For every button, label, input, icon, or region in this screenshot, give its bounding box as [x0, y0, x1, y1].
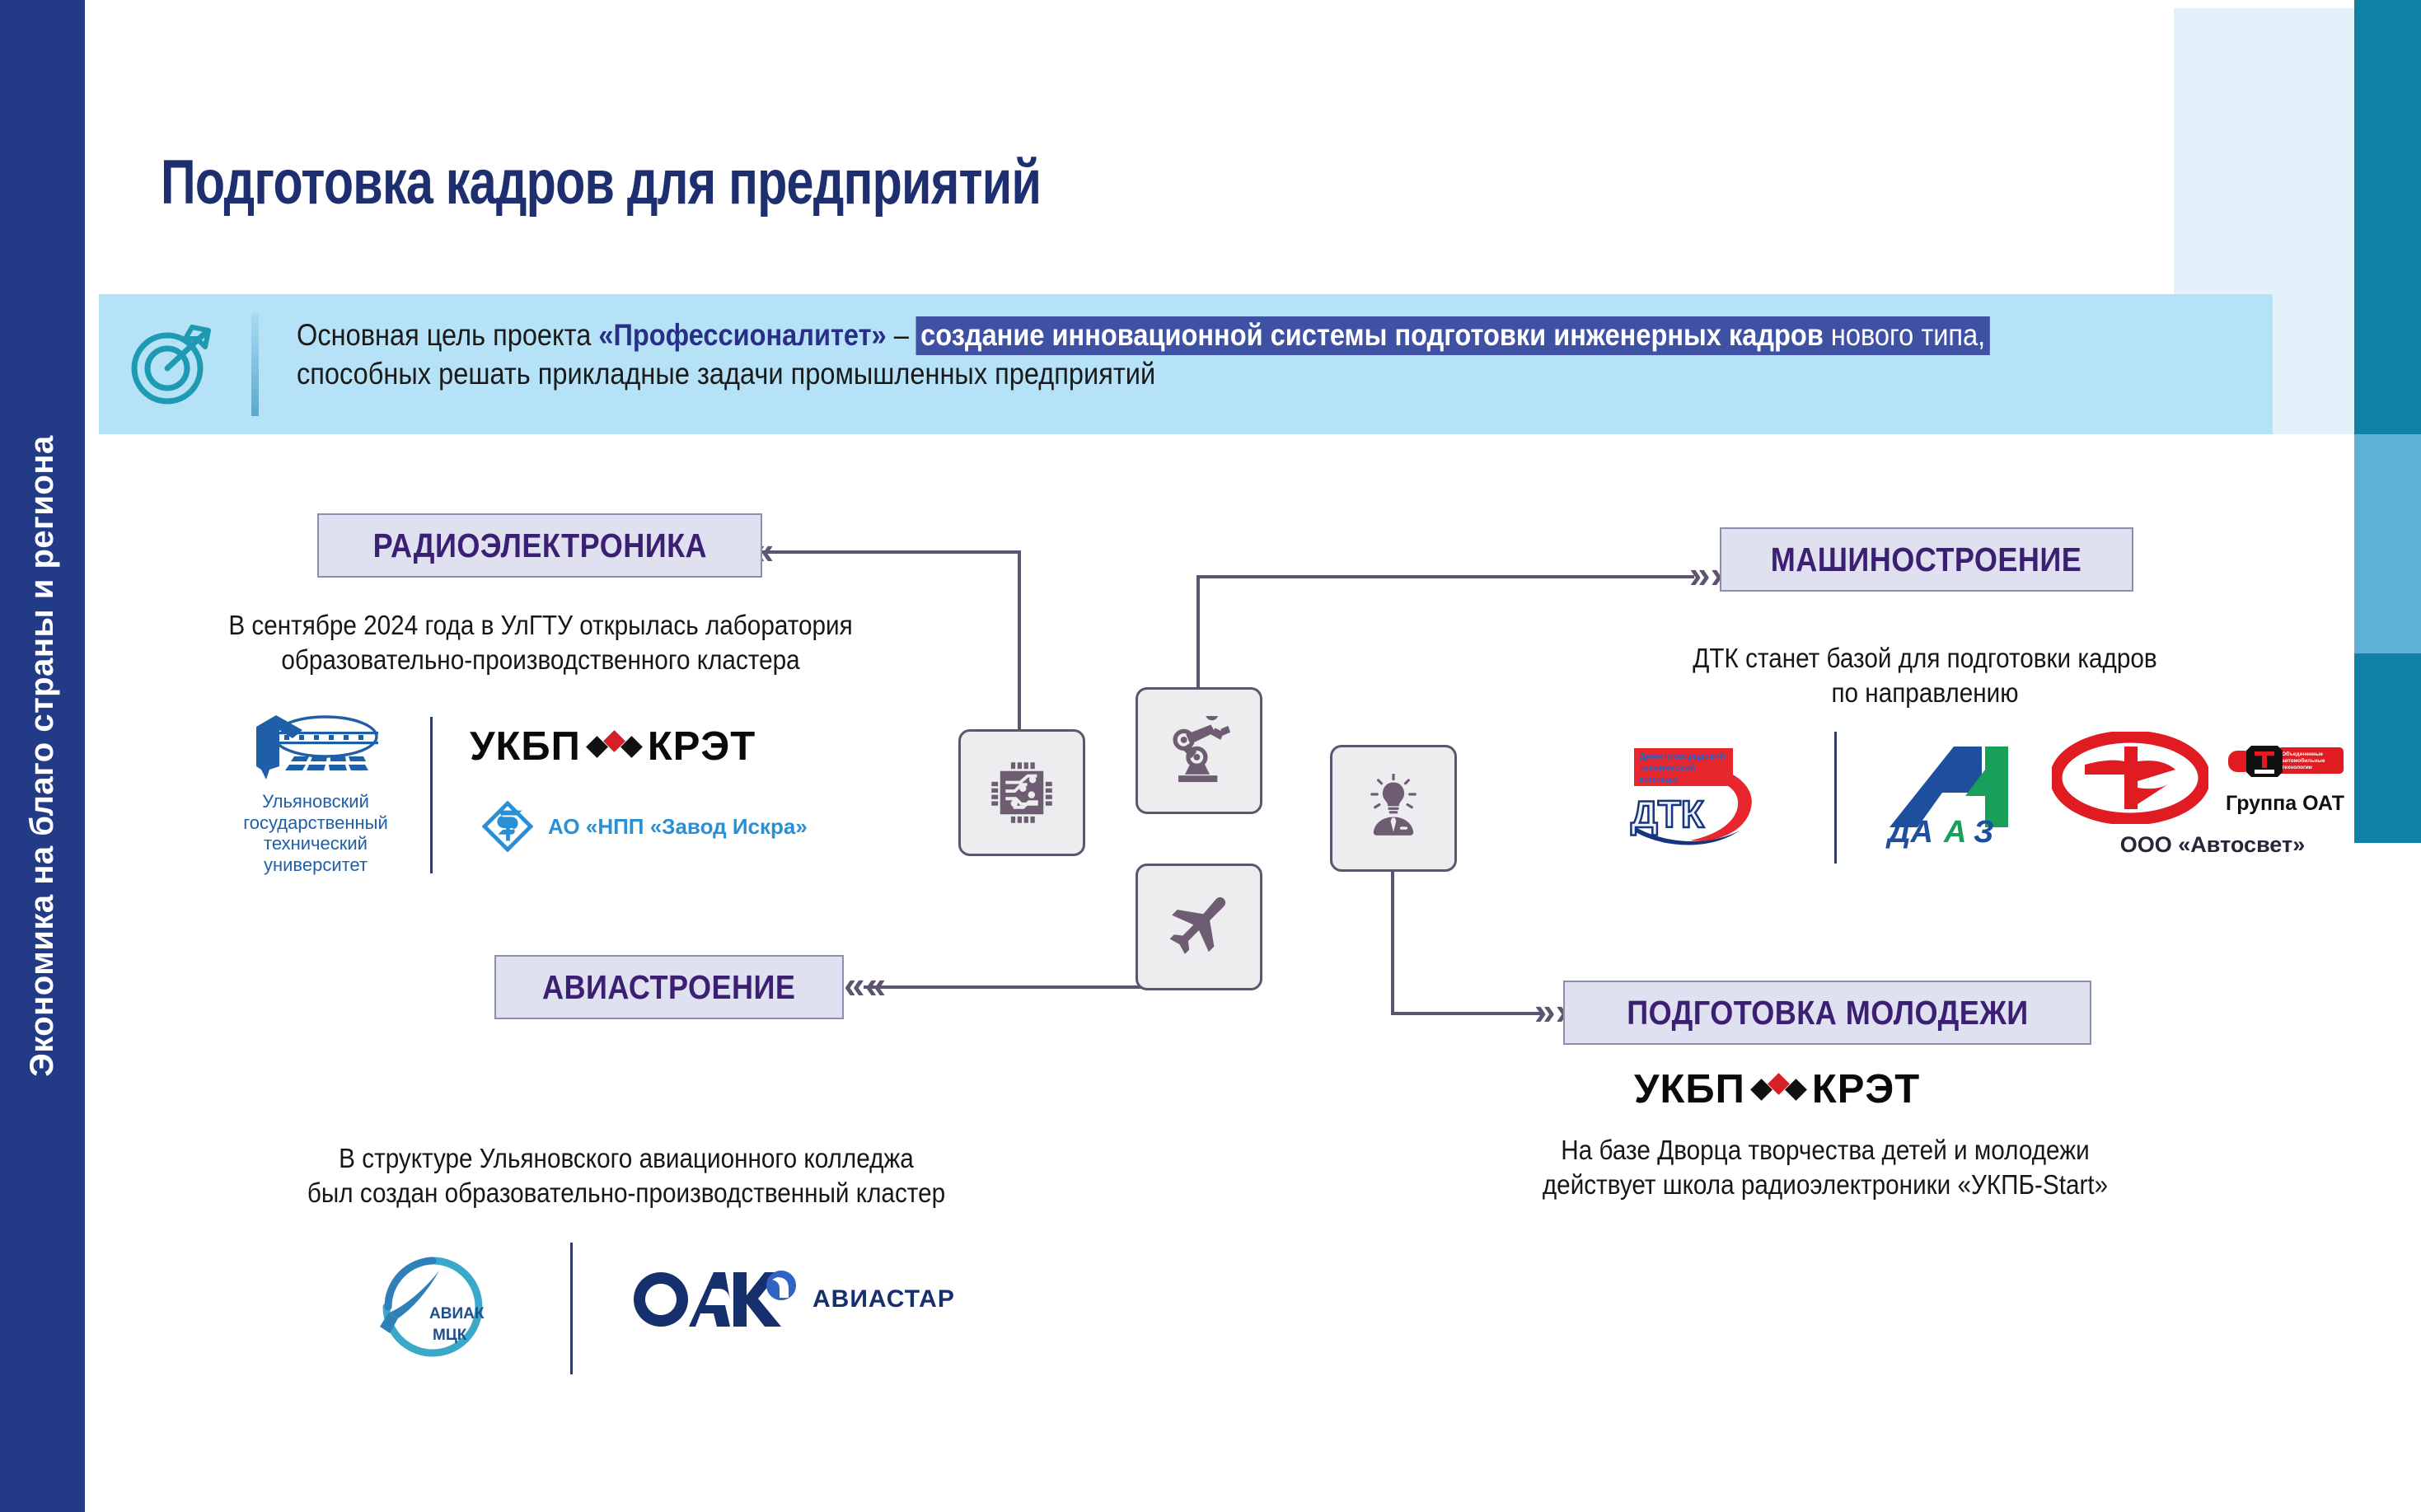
ulgtu-caption-line2: государственный [213, 812, 419, 834]
ukbp-youth-right: КРЭТ [1812, 1066, 1920, 1112]
avtosvet-mark-icon [2052, 732, 2208, 824]
text-radioelektronika: В сентябре 2024 года в УлГТУ открылась л… [124, 608, 958, 677]
connector-chip-horizontal [750, 550, 1021, 554]
banner-highlight: создание инновационной системы подготовк… [916, 316, 1990, 355]
aviak-mck-mark-icon: АВИАК МЦК [350, 1251, 515, 1358]
dtk-mark-text: ДТК [1631, 793, 1705, 836]
tile-person-lightbulb[interactable] [1330, 745, 1457, 872]
diagram-stage: «« »» «« »» [0, 445, 2421, 1512]
person-lightbulb-icon [1359, 774, 1428, 843]
logo-iskra: АО «НПП «Завод Искра» [482, 801, 808, 852]
avtosvet-caption: ООО «Автосвет» [2077, 832, 2348, 858]
label-radioelektronika[interactable]: РАДИОЭЛЕКТРОНИКА [317, 513, 762, 578]
ukbp-diamond-cluster-icon [589, 733, 639, 760]
dtk-sub3: колледж [1639, 775, 1678, 784]
airplane-icon [1164, 892, 1234, 962]
oat-caption: Группа ОАТ [2226, 792, 2344, 816]
label-podgotovka-text: ПОДГОТОВКА МОЛОДЕЖИ [1627, 994, 2028, 1032]
tile-microchip[interactable] [958, 729, 1085, 856]
text-avia-line1: В структуре Ульяновского авиационного ко… [248, 1141, 1004, 1176]
decorative-panel-teal-top [2354, 0, 2421, 434]
page-title: Подготовка кадров для предприятий [161, 147, 1041, 218]
arrow-left-avia: «« [844, 966, 886, 1004]
banner-lead: Основная цель проекта [297, 318, 598, 352]
daaz-mark-icon: ДА А З [1885, 742, 2033, 849]
ulgtu-mark-icon [233, 709, 398, 791]
logo-oak-aviastar: АВИАСТАР [626, 1267, 955, 1332]
banner-highlight-bold: создание инновационной системы подготовк… [920, 318, 1824, 352]
text-radio-line2: образовательно-производственного кластер… [166, 643, 916, 677]
daaz-mark-green: А [1943, 815, 1966, 849]
divider-radio [430, 717, 433, 873]
connector-person-horizontal [1391, 1012, 1541, 1015]
label-radioelektronika-text: РАДИОЭЛЕКТРОНИКА [372, 527, 706, 565]
text-aviastroenie: В структуре Ульяновского авиационного ко… [206, 1141, 1047, 1210]
banner-tail: способных решать прикладные задачи промы… [297, 357, 1155, 391]
aviastar-caption: АВИАСТАР [812, 1285, 955, 1313]
text-youth-line1: На базе Дворца творчества детей и молоде… [1488, 1133, 2163, 1168]
label-podgotovka-molodezhi-box[interactable]: ПОДГОТОВКА МОЛОДЕЖИ [1563, 981, 2091, 1045]
robot-arm-icon [1164, 716, 1234, 785]
logo-avtosvet: Объединенныеавтомобильныетехнологии Груп… [2052, 732, 2348, 858]
label-aviastroenie-text: АВИАСТРОЕНИЕ [542, 968, 795, 1007]
ukbp-youth-diamond-cluster-icon [1754, 1076, 1804, 1102]
banner-dash: – [887, 318, 916, 352]
ukbp-youth-left: УКБП [1634, 1066, 1745, 1112]
logo-ulgtu-caption: Ульяновский государственный технический … [213, 791, 419, 875]
label-aviastroenie[interactable]: АВИАСТРОЕНИЕ [494, 955, 844, 1019]
dtk-sub2: технический [1639, 763, 1695, 773]
logo-daaz: ДА А З [1885, 742, 2033, 849]
banner-project-name: «Профессионалитет» [598, 318, 886, 352]
dtk-mark-icon: Димитровградский технический колледж ДТК [1619, 742, 1776, 849]
logo-dtk: Димитровградский технический колледж ДТК [1619, 742, 1776, 849]
aviak-line2: МЦК [433, 1327, 467, 1344]
oat-mark-icon: Объединенныеавтомобильныетехнологии [2223, 741, 2347, 789]
connector-person-vertical [1391, 867, 1394, 1015]
ulgtu-caption-line1: Ульяновский [213, 791, 419, 812]
connector-robot-horizontal [1196, 575, 1694, 578]
connector-robot-vertical [1196, 575, 1200, 687]
daaz-mark-blue2: З [1974, 815, 1993, 849]
label-mashinostroenie[interactable]: МАШИНОСТРОЕНИЕ [1720, 527, 2133, 592]
iskra-caption: АО «НПП «Завод Искра» [548, 814, 808, 840]
logo-ukbp-kret-youth: УКБП КРЭТ [1634, 1066, 1920, 1112]
ukbp-right-text: КРЭТ [648, 723, 756, 770]
microchip-icon [987, 758, 1056, 827]
ulgtu-caption-line3: технический университет [213, 833, 419, 875]
text-youth-line2: действует школа радиоэлектроники «УКПБ-S… [1488, 1168, 2163, 1202]
aviak-line1: АВИАК [429, 1305, 485, 1322]
daaz-mark-blue: ДА [1885, 815, 1933, 849]
text-mashino-line2: по направлению [1583, 676, 2267, 710]
connector-chip-vertical [1018, 550, 1021, 729]
logo-ukbp-kret-radio: УКБП КРЭТ [470, 723, 756, 770]
iskra-mark-icon [482, 801, 533, 852]
text-mashino-line1: ДТК станет базой для подготовки кадров [1583, 641, 2267, 676]
ukbp-left-text: УКБП [470, 723, 581, 770]
text-avia-line2: был создан образовательно-производственн… [248, 1176, 1004, 1210]
logo-ulgtu: Ульяновский государственный технический … [213, 709, 419, 875]
banner-highlight-thin: нового типа, [1824, 318, 1985, 352]
text-mashinostroenie: ДТК станет базой для подготовки кадров п… [1545, 641, 2305, 710]
banner-accent-bar [251, 312, 259, 416]
tile-robot-arm[interactable] [1136, 687, 1262, 814]
tile-airplane[interactable] [1136, 864, 1262, 990]
text-podgotovka-molodezhi: На базе Дворца творчества детей и молоде… [1450, 1133, 2200, 1202]
svg-text:технологии: технологии [2282, 765, 2312, 770]
target-arrow-icon [126, 319, 217, 410]
divider-mashino [1834, 732, 1837, 864]
svg-text:автомобильные: автомобильные [2282, 757, 2325, 764]
svg-text:Объединенные: Объединенные [2282, 751, 2323, 757]
goal-banner: Основная цель проекта «Профессионалитет»… [99, 294, 2273, 434]
banner-text: Основная цель проекта «Профессионалитет»… [297, 316, 2016, 394]
logo-aviak-mck: АВИАК МЦК [350, 1251, 515, 1362]
label-mashinostroenie-text: МАШИНОСТРОЕНИЕ [1771, 541, 2082, 579]
text-radio-line1: В сентябре 2024 года в УлГТУ открылась л… [166, 608, 916, 643]
oak-mark-icon [626, 1267, 799, 1332]
divider-avia [570, 1243, 573, 1374]
dtk-sub1: Димитровградский [1639, 751, 1726, 761]
